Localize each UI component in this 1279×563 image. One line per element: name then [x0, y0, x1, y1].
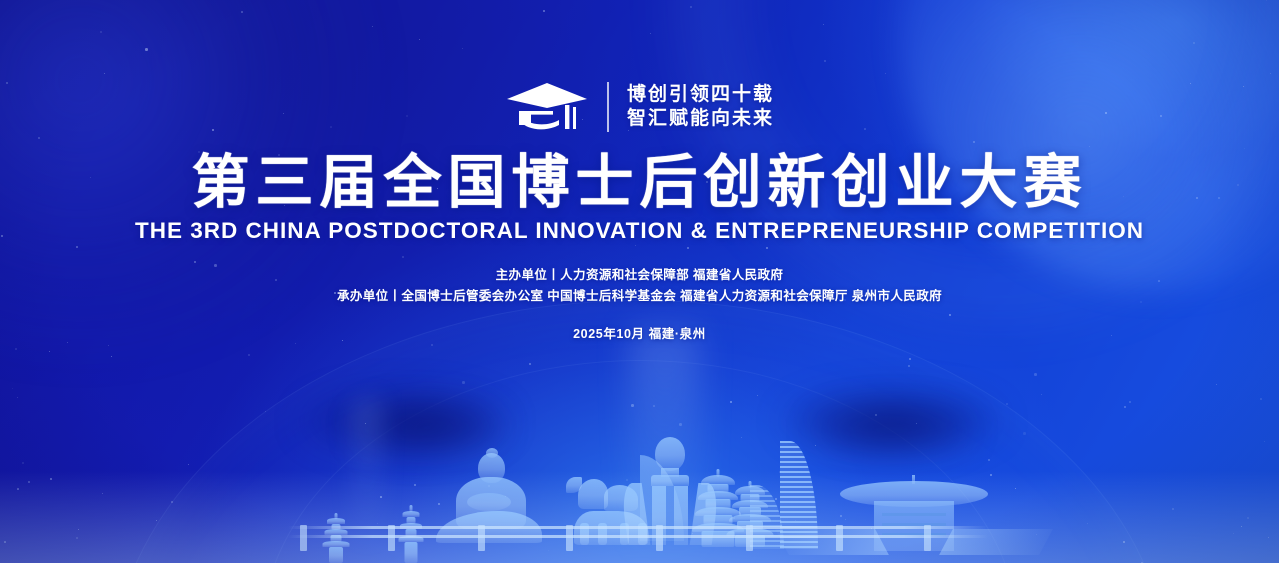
organizer-line-coorg: 承办单位丨全国博士后管委会办公室 中国博士后科学基金会 福建省人力资源和社会保障… [0, 286, 1279, 307]
slogan-block: 博创引领四十载 智汇赋能向未来 [627, 83, 774, 131]
competition-banner: 博创引领四十载 智汇赋能向未来 第三届全国博士后创新创业大赛 THE 3RD C… [0, 0, 1279, 563]
slogan-line-2: 智汇赋能向未来 [627, 107, 774, 131]
title-english: THE 3RD CHINA POSTDOCTORAL INNOVATION & … [0, 218, 1279, 244]
logo-row: 博创引领四十载 智汇赋能向未来 [0, 78, 1279, 136]
slogan-line-1: 博创引领四十载 [627, 83, 774, 107]
banner-content: 博创引领四十载 智汇赋能向未来 第三届全国博士后创新创业大赛 THE 3RD C… [0, 0, 1279, 342]
organizer-line-host: 主办单位丨人力资源和社会保障部 福建省人民政府 [0, 265, 1279, 286]
title-chinese: 第三届全国博士后创新创业大赛 [0, 152, 1279, 214]
stone-fence [288, 521, 988, 551]
date-location: 2025年10月 福建·泉州 [0, 323, 1279, 342]
organizers-block: 主办单位丨人力资源和社会保障部 福建省人民政府 承办单位丨全国博士后管委会办公室… [0, 265, 1279, 307]
graduation-cap-logo [505, 81, 589, 133]
skyline-silhouette [0, 363, 1279, 563]
logo-divider [607, 82, 609, 132]
